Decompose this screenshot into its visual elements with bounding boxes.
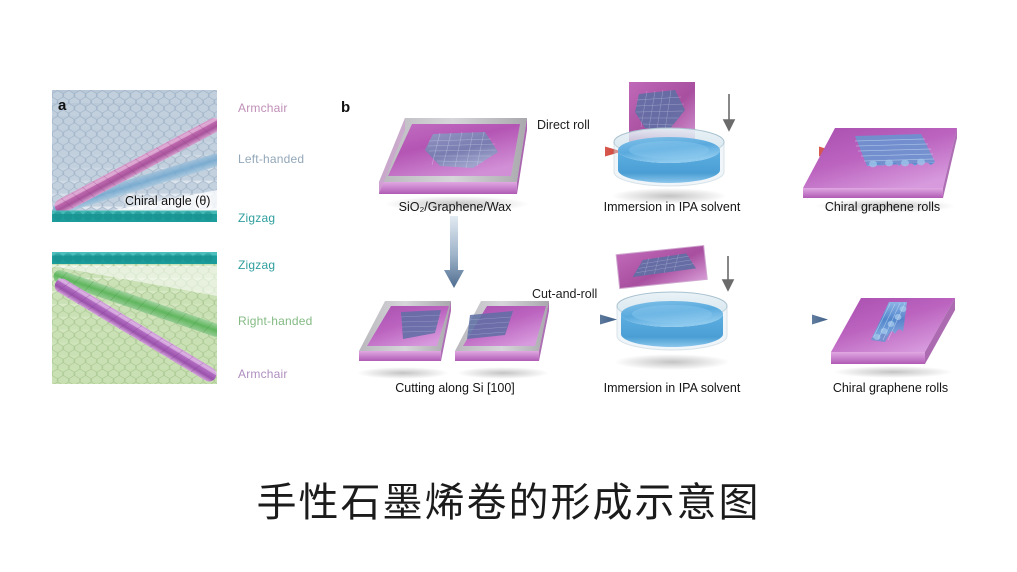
caption-immersion-bottom: Immersion in IPA solvent [592, 381, 752, 395]
label-left-handed: Left-handed [238, 152, 304, 166]
label-zigzag-bottom: Zigzag [238, 258, 275, 272]
label-armchair-bottom: Armchair [238, 367, 288, 381]
hex-lattice-green [52, 252, 217, 384]
caption-immersion-top: Immersion in IPA solvent [592, 200, 752, 214]
scientific-figure: a Chiral angle (θ) Armchair Left-handed … [0, 0, 1017, 572]
slab-sio2-graphene-wax [365, 108, 545, 213]
label-right-handed: Right-handed [238, 314, 312, 328]
panel-a-bottom-lattice [52, 252, 217, 384]
chiral-angle-label: Chiral angle (θ) [125, 194, 210, 208]
arrow-down-blue-icon [443, 216, 465, 290]
label-zigzag-top: Zigzag [238, 211, 275, 225]
stage-chiral-rolls-bottom [815, 290, 975, 385]
panel-b-letter: b [341, 99, 350, 116]
caption-chiral-rolls-bottom: Chiral graphene rolls [808, 381, 973, 395]
down-arrow-wrap [443, 216, 465, 290]
slab-chiral-rolls-bottom [815, 290, 975, 385]
stage-sio2-graphene-wax [365, 108, 545, 213]
caption-chiral-rolls-top: Chiral graphene rolls [800, 200, 965, 214]
dish-ipa-bottom [600, 246, 750, 376]
panel-a-letter: a [58, 97, 66, 114]
caption-sio2-graphene-wax: SiO₂/Graphene/Wax [370, 200, 540, 214]
stage-immersion-top [597, 80, 747, 210]
figure-caption: 手性石墨烯卷的形成示意图 [0, 470, 1017, 528]
label-armchair-top: Armchair [238, 101, 288, 115]
cut-and-roll-label: Cut-and-roll [532, 287, 597, 301]
caption-cutting-along-si: Cutting along Si [100] [370, 381, 540, 395]
dish-ipa-top [597, 80, 747, 210]
stage-immersion-bottom [600, 246, 750, 376]
direct-roll-label: Direct roll [537, 118, 590, 132]
cut-slab-left [359, 301, 451, 361]
